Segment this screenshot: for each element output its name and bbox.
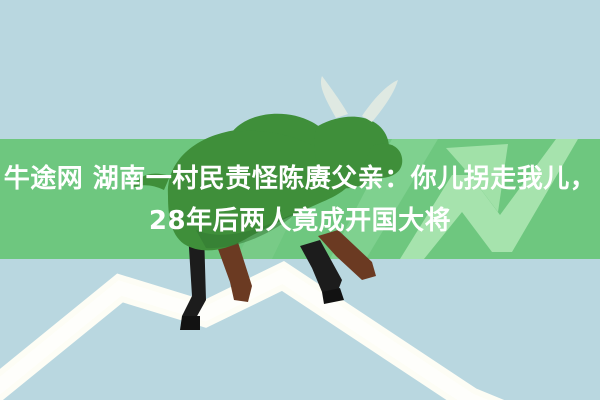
thumbnail-canvas: 牛途网 湖南一村民责怪陈赓父亲：你儿拐走我儿， 28年后两人竟成开国大将: [0, 0, 600, 400]
illustration-artwork: [0, 0, 600, 400]
